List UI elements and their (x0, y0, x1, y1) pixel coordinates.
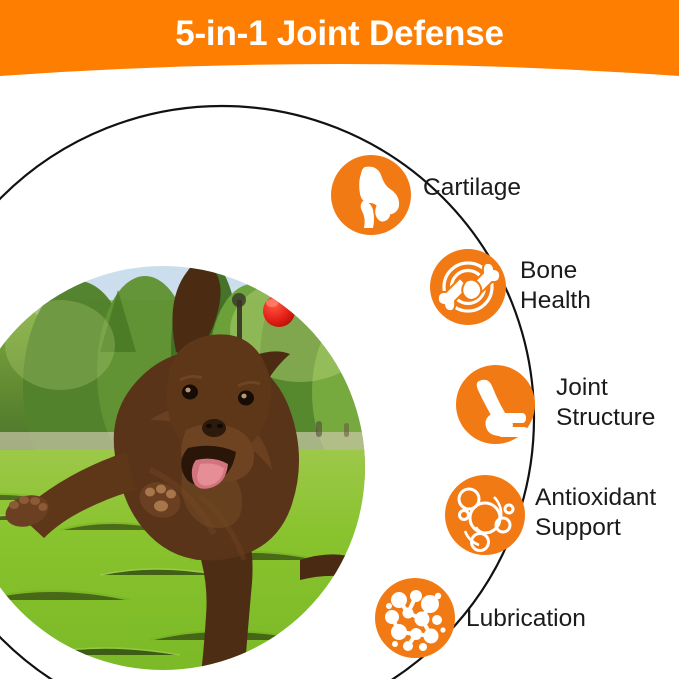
bent-elbow-joint-icon[interactable] (456, 365, 535, 444)
header-banner: 5-in-1 Joint Defense (0, 0, 679, 80)
knee-joint-icon[interactable] (331, 155, 411, 235)
feature-label-lubrication: Lubrication (466, 604, 586, 634)
feature-label-joint-structure: Joint Structure (556, 373, 655, 433)
feature-label-antioxidant: Antioxidant Support (535, 483, 656, 543)
bubble-cluster-icon[interactable] (375, 578, 455, 658)
infographic-stage (0, 0, 679, 679)
red-ball (263, 295, 295, 327)
feature-label-bone-health: Bone Health (520, 256, 591, 316)
stage-graphics (0, 0, 679, 679)
page-title: 5-in-1 Joint Defense (0, 0, 679, 68)
bone-in-circle-icon[interactable] (430, 249, 506, 325)
molecule-orbit-icon[interactable] (445, 475, 525, 555)
feature-label-cartilage: Cartilage (423, 173, 521, 203)
dog-photo-circle (0, 250, 412, 679)
